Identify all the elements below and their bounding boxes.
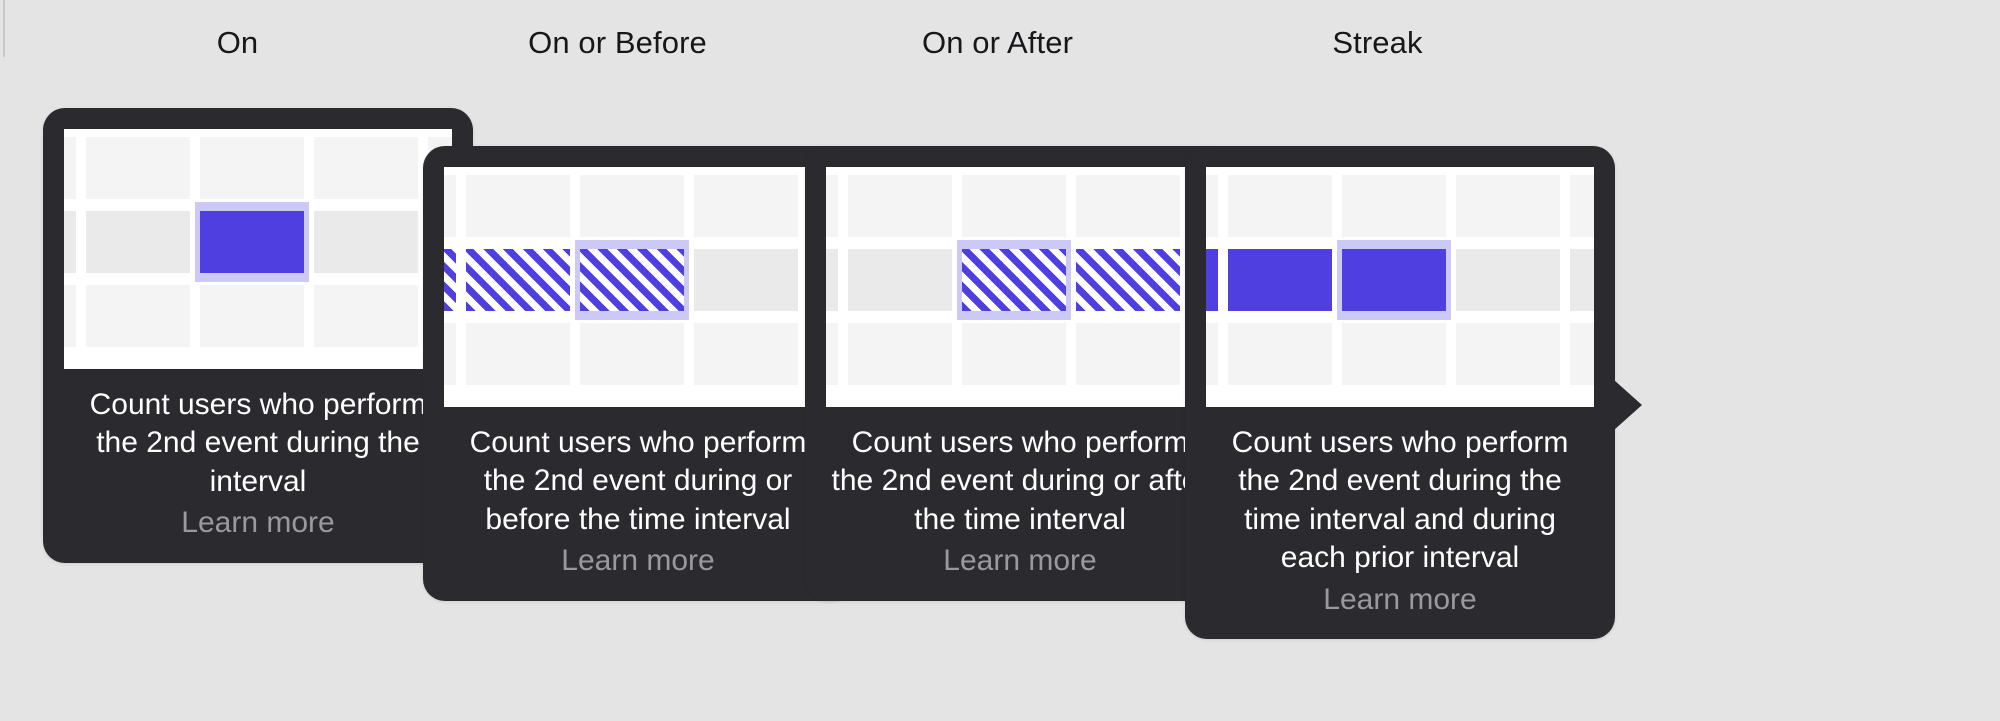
diagram-stage: OnCount users who perform the 2nd event … xyxy=(0,0,2000,721)
card-body-on-or-before: Count users who perform the 2nd event du… xyxy=(444,424,832,581)
on-or-after-diagram xyxy=(826,167,1214,407)
card-body-on: Count users who perform the 2nd event du… xyxy=(64,386,452,543)
grid-row xyxy=(1206,323,1594,385)
grid-cell xyxy=(444,175,456,237)
grid-cell xyxy=(848,323,952,385)
grid-cell xyxy=(826,175,838,237)
grid-cell xyxy=(86,285,190,347)
grid-cell xyxy=(444,323,456,385)
comparison-columns: OnCount users who perform the 2nd event … xyxy=(0,0,2000,721)
streak-diagram xyxy=(1206,167,1594,407)
grid-row xyxy=(444,175,832,237)
grid-cell xyxy=(314,285,418,347)
on-or-before-diagram xyxy=(444,167,832,407)
grid-cell xyxy=(1228,175,1332,237)
grid-cell xyxy=(1342,323,1446,385)
solid-bar xyxy=(200,211,304,273)
grid-cell xyxy=(1076,323,1180,385)
grid-row xyxy=(1206,175,1594,237)
card-on-or-after[interactable]: Count users who perform the 2nd event du… xyxy=(805,146,1235,601)
grid-cell xyxy=(1206,323,1218,385)
grid-cell xyxy=(580,175,684,237)
solid-bar xyxy=(1206,249,1218,311)
learn-more-link[interactable]: Learn more xyxy=(1206,581,1594,619)
grid-row xyxy=(64,137,452,199)
grid-cell xyxy=(580,323,684,385)
grid-cell xyxy=(1228,323,1332,385)
grid-cell xyxy=(1342,175,1446,237)
learn-more-link[interactable]: Learn more xyxy=(444,542,832,580)
card-body-streak: Count users who perform the 2nd event du… xyxy=(1206,424,1594,619)
hatched-bar xyxy=(962,249,1066,311)
grid-cell xyxy=(466,175,570,237)
grid-cell xyxy=(1076,175,1180,237)
learn-more-link[interactable]: Learn more xyxy=(826,542,1214,580)
card-description: Count users who perform the 2nd event du… xyxy=(1206,424,1594,578)
grid-cell xyxy=(86,137,190,199)
grid-cell xyxy=(466,323,570,385)
grid-cell xyxy=(200,285,304,347)
hatched-bar xyxy=(466,249,570,311)
card-on-or-before[interactable]: Count users who perform the 2nd event du… xyxy=(423,146,853,601)
grid-cell xyxy=(1570,175,1594,237)
highlight-marks xyxy=(826,249,1214,311)
card-on[interactable]: Count users who perform the 2nd event du… xyxy=(43,108,473,563)
hatched-bar xyxy=(444,249,456,311)
card-body-on-or-after: Count users who perform the 2nd event du… xyxy=(826,424,1214,581)
learn-more-link[interactable]: Learn more xyxy=(64,504,452,542)
grid-cell xyxy=(962,175,1066,237)
grid-cell xyxy=(962,323,1066,385)
highlight-marks xyxy=(1206,249,1594,311)
highlight-marks xyxy=(64,211,452,273)
grid-cell xyxy=(200,137,304,199)
grid-cell xyxy=(1456,323,1560,385)
on-diagram xyxy=(64,129,452,369)
grid-row xyxy=(64,285,452,347)
hatched-bar xyxy=(1076,249,1180,311)
grid-cell xyxy=(826,323,838,385)
grid-cell xyxy=(314,137,418,199)
hatched-bar xyxy=(580,249,684,311)
grid-cell xyxy=(694,175,798,237)
card-streak[interactable]: Count users who perform the 2nd event du… xyxy=(1185,146,1615,639)
grid-row xyxy=(826,323,1214,385)
card-description: Count users who perform the 2nd event du… xyxy=(826,424,1214,539)
solid-bar xyxy=(1228,249,1332,311)
grid-cell xyxy=(1456,175,1560,237)
column-header-streak: Streak xyxy=(1140,25,1615,61)
solid-bar xyxy=(1342,249,1446,311)
grid-row xyxy=(826,175,1214,237)
grid-cell xyxy=(694,323,798,385)
card-pointer-tail xyxy=(1614,380,1642,430)
grid-cell xyxy=(1570,323,1594,385)
card-description: Count users who perform the 2nd event du… xyxy=(444,424,832,539)
grid-cell xyxy=(848,175,952,237)
card-description: Count users who perform the 2nd event du… xyxy=(64,386,452,501)
highlight-marks xyxy=(444,249,832,311)
grid-row xyxy=(444,323,832,385)
grid-cell xyxy=(64,285,76,347)
grid-cell xyxy=(1206,175,1218,237)
grid-cell xyxy=(64,137,76,199)
